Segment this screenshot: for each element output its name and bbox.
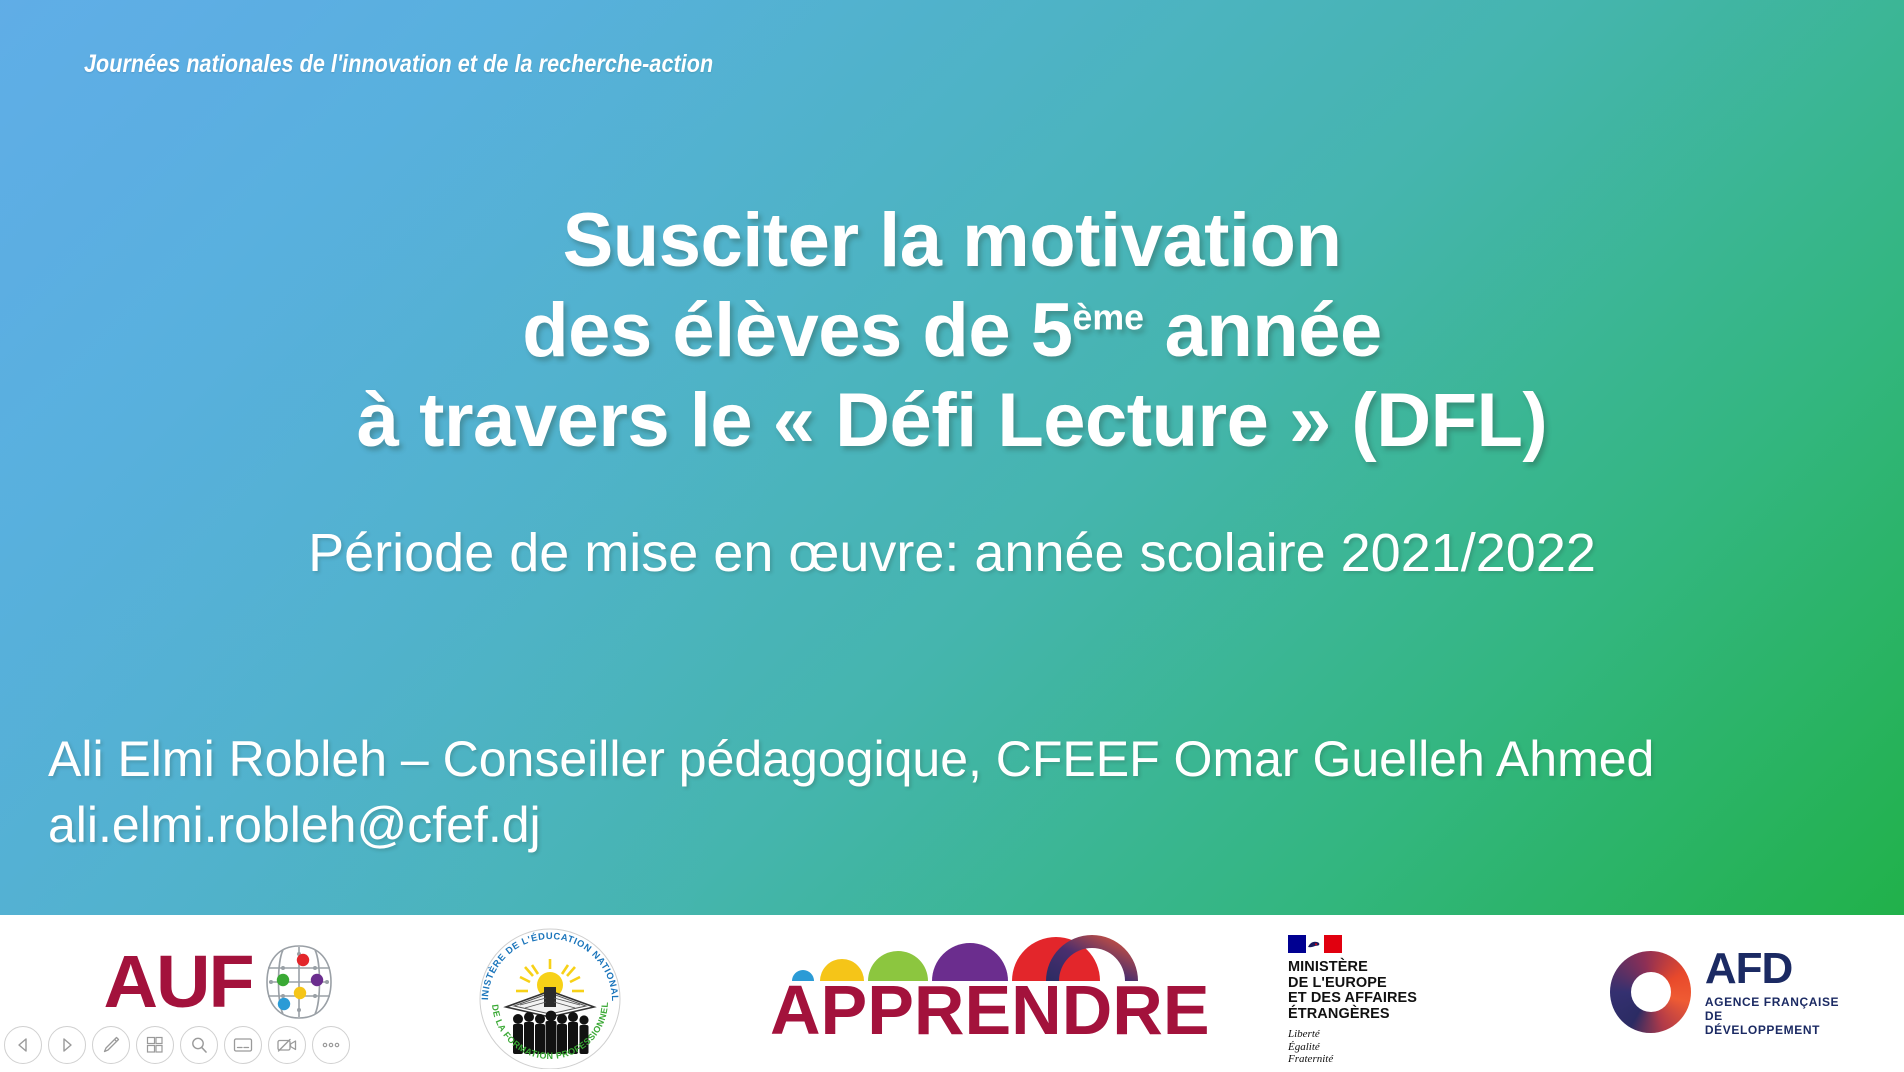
magnifier-icon: [190, 1036, 208, 1054]
presenter-toolbar[interactable]: [4, 1026, 350, 1064]
author-email: ali.elmi.robleh@cfef.dj: [48, 792, 1654, 858]
mfa-title-line-2: DE L'EUROPE: [1288, 976, 1468, 992]
camera-slash-icon: [276, 1036, 298, 1054]
title-line-2: des élèves de 5ème année: [0, 286, 1904, 376]
chevron-right-icon: [59, 1037, 75, 1053]
more-options-button[interactable]: [312, 1026, 350, 1064]
apprendre-wordmark: APPRENDRE: [770, 975, 1210, 1045]
marianne-icon: [1306, 935, 1324, 953]
camera-off-button[interactable]: [268, 1026, 306, 1064]
presentation-slide: Journées nationales de l'innovation et d…: [0, 0, 1904, 1072]
logo-apprendre: APPRENDRE: [768, 925, 1148, 1045]
afd-subtitle-line-2: DE DÉVELOPPEMENT: [1705, 1009, 1840, 1037]
devise-fraternite: Fraternité: [1288, 1053, 1468, 1066]
title-line-2-text: des élèves de 5: [522, 288, 1072, 373]
afd-subtitle-line-1: AGENCE FRANÇAISE: [1705, 995, 1840, 1009]
previous-slide-button[interactable]: [4, 1026, 42, 1064]
captions-icon: [233, 1036, 253, 1054]
title-line-1: Susciter la motivation: [0, 196, 1904, 286]
mfa-devise: Liberté Égalité Fraternité: [1288, 1028, 1468, 1066]
pen-tool-button[interactable]: [92, 1026, 130, 1064]
mfa-title-line-1: MINISTÈRE: [1288, 960, 1468, 976]
page-title: Susciter la motivation des élèves de 5èm…: [0, 196, 1904, 466]
network-globe-icon: [257, 940, 341, 1024]
gradient-ring-icon: [1610, 951, 1691, 1033]
next-slide-button[interactable]: [48, 1026, 86, 1064]
event-kicker: Journées nationales de l'innovation et d…: [84, 50, 713, 79]
slide-subtitle: Période de mise en œuvre: année scolaire…: [0, 522, 1904, 584]
logo-ministere-europe-affaires-etrangeres: MINISTÈRE DE L'EUROPE ET DES AFFAIRES ÉT…: [1288, 935, 1468, 1059]
mfa-title-line-3: ET DES AFFAIRES: [1288, 991, 1468, 1007]
author-name-role: Ali Elmi Robleh – Conseiller pédagogique…: [48, 726, 1654, 792]
french-tricolor-flag-icon: [1288, 935, 1342, 953]
education-ministry-emblem-icon: MINISTÈRE DE L'ÉDUCATION NATIONALE ET DE…: [470, 919, 630, 1069]
afd-subtitle: AGENCE FRANÇAISE DE DÉVELOPPEMENT: [1705, 995, 1840, 1037]
zoom-button[interactable]: [180, 1026, 218, 1064]
grid-slides-icon: [146, 1036, 164, 1054]
afd-wordmark: AFD: [1705, 947, 1840, 991]
all-slides-button[interactable]: [136, 1026, 174, 1064]
logo-afd: AFD AGENCE FRANÇAISE DE DÉVELOPPEMENT: [1610, 937, 1840, 1047]
title-line-2-tail: année: [1144, 288, 1382, 373]
mfa-title-line-4: ÉTRANGÈRES: [1288, 1007, 1468, 1023]
title-line-3: à travers le « Défi Lecture » (DFL): [0, 376, 1904, 466]
logo-auf: AUF: [105, 927, 345, 1037]
title-ordinal-suffix: ème: [1072, 298, 1144, 338]
devise-egalite: Égalité: [1288, 1041, 1468, 1054]
devise-liberte: Liberté: [1288, 1028, 1468, 1041]
auf-wordmark: AUF: [104, 945, 253, 1019]
logo-ministere-education-nationale: MINISTÈRE DE L'ÉDUCATION NATIONALE ET DE…: [470, 919, 630, 1069]
ellipsis-icon: [321, 1041, 341, 1049]
chevron-left-icon: [15, 1037, 31, 1053]
author-block: Ali Elmi Robleh – Conseiller pédagogique…: [48, 726, 1654, 858]
mfa-title: MINISTÈRE DE L'EUROPE ET DES AFFAIRES ÉT…: [1288, 960, 1468, 1022]
subtitles-button[interactable]: [224, 1026, 262, 1064]
pen-icon: [101, 1035, 121, 1055]
